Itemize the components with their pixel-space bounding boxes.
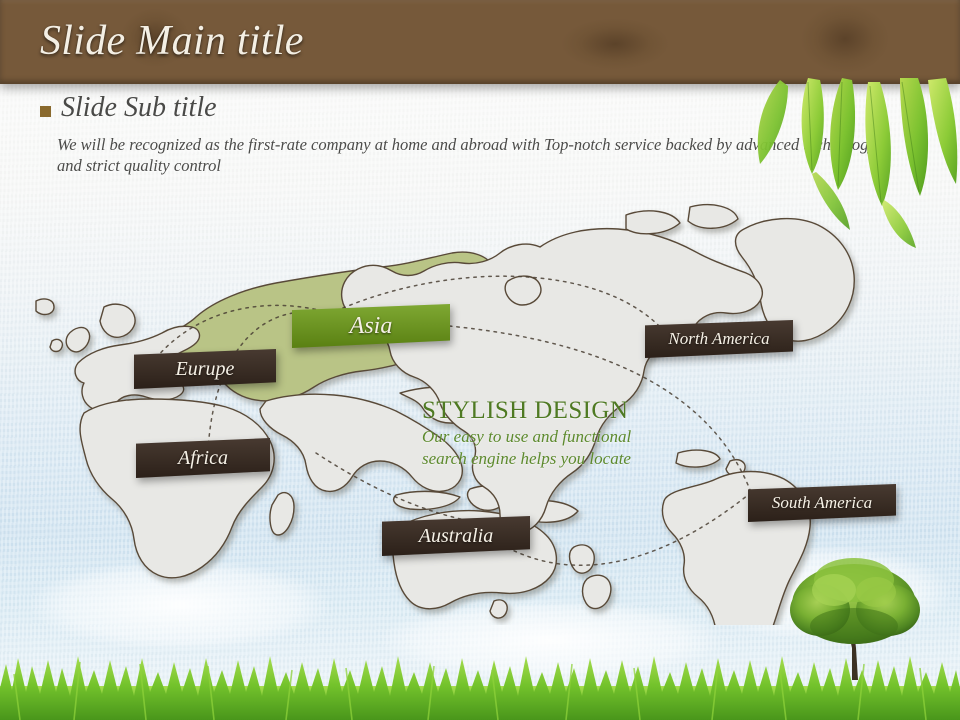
- grass-blades: [0, 656, 960, 720]
- map-label-europe[interactable]: Eurupe: [134, 349, 276, 389]
- grass-highlights: [14, 662, 926, 720]
- wood-knot: [560, 18, 670, 70]
- feature-line-2: search engine helps you locate: [422, 448, 684, 470]
- island-iceland: [36, 299, 54, 314]
- island-newzealand-n: [570, 545, 595, 573]
- map-label-africa[interactable]: Africa: [136, 438, 270, 478]
- island-canada-arctic-a: [626, 211, 680, 234]
- feature-line-1: Our easy to use and functional: [422, 426, 684, 448]
- feature-heading: STYLISH DESIGN: [422, 396, 684, 426]
- map-label-asia[interactable]: Asia: [292, 304, 450, 348]
- island-britain: [66, 328, 89, 352]
- island-canada-arctic-b: [688, 205, 738, 229]
- map-label-south-america-text: South America: [772, 493, 872, 513]
- island-tasmania: [490, 600, 507, 618]
- subtitle-row: Slide Sub title: [40, 90, 217, 126]
- map-label-asia-text: Asia: [350, 313, 393, 340]
- map-label-north-america[interactable]: North America: [645, 320, 793, 358]
- page-title: Slide Main title: [40, 12, 304, 70]
- map-label-africa-text: Africa: [178, 447, 228, 470]
- body-paragraph: We will be recognized as the first-rate …: [57, 134, 897, 176]
- island-ireland: [50, 339, 62, 351]
- island-scandinavia: [100, 304, 135, 337]
- slide-canvas: Slide Main title Slide Sub title We will…: [0, 0, 960, 720]
- grass-strip: [0, 648, 960, 720]
- map-label-australia[interactable]: Australia: [382, 516, 530, 556]
- island-newzealand-s: [583, 575, 611, 608]
- map-label-south-america[interactable]: South America: [748, 484, 896, 522]
- wood-knot: [800, 4, 890, 74]
- map-label-europe-text: Eurupe: [176, 358, 235, 381]
- continent-africa: [80, 399, 274, 578]
- map-label-australia-text: Australia: [419, 525, 493, 548]
- island-madagascar: [270, 493, 294, 535]
- page-subtitle: Slide Sub title: [61, 90, 217, 126]
- map-label-north-america-text: North America: [668, 329, 769, 349]
- feature-text-block: STYLISH DESIGN Our easy to use and funct…: [422, 396, 684, 470]
- region-alaska: [505, 276, 541, 305]
- bullet-square-icon: [40, 106, 51, 117]
